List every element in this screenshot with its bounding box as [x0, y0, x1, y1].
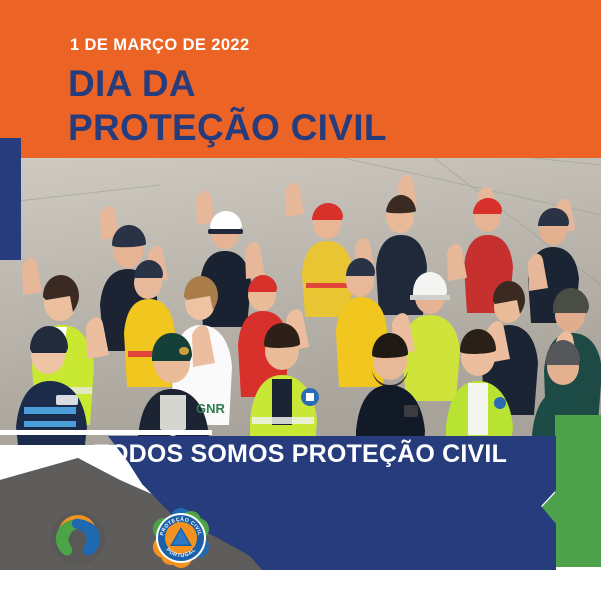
banner-slogan: TODOS SOMOS PROTEÇÃO CIVIL	[0, 440, 601, 469]
left-navy-accent-bar	[0, 138, 21, 260]
group-photo: GNR	[0, 155, 601, 445]
svg-text:GNR: GNR	[196, 401, 226, 416]
poster-canvas: GNR	[0, 0, 601, 601]
bottom-white-margin	[0, 570, 601, 601]
anepc-swirl-logo[interactable]	[49, 508, 107, 566]
protecao-civil-portugal-emblem[interactable]: PROTEÇÃO CIVIL PORTUGAL	[147, 503, 215, 571]
header-band: 1 DE MARÇO DE 2022 DIA DA PROTEÇÃO CIVIL	[0, 0, 601, 158]
white-divider-rule	[0, 430, 212, 435]
title-line-1: DIA DA	[68, 63, 196, 104]
event-date: 1 DE MARÇO DE 2022	[70, 36, 250, 55]
title-line-2: PROTEÇÃO CIVIL	[68, 106, 387, 150]
page-title: DIA DA PROTEÇÃO CIVIL	[68, 62, 387, 149]
group-photo-illustration: GNR	[0, 155, 601, 445]
